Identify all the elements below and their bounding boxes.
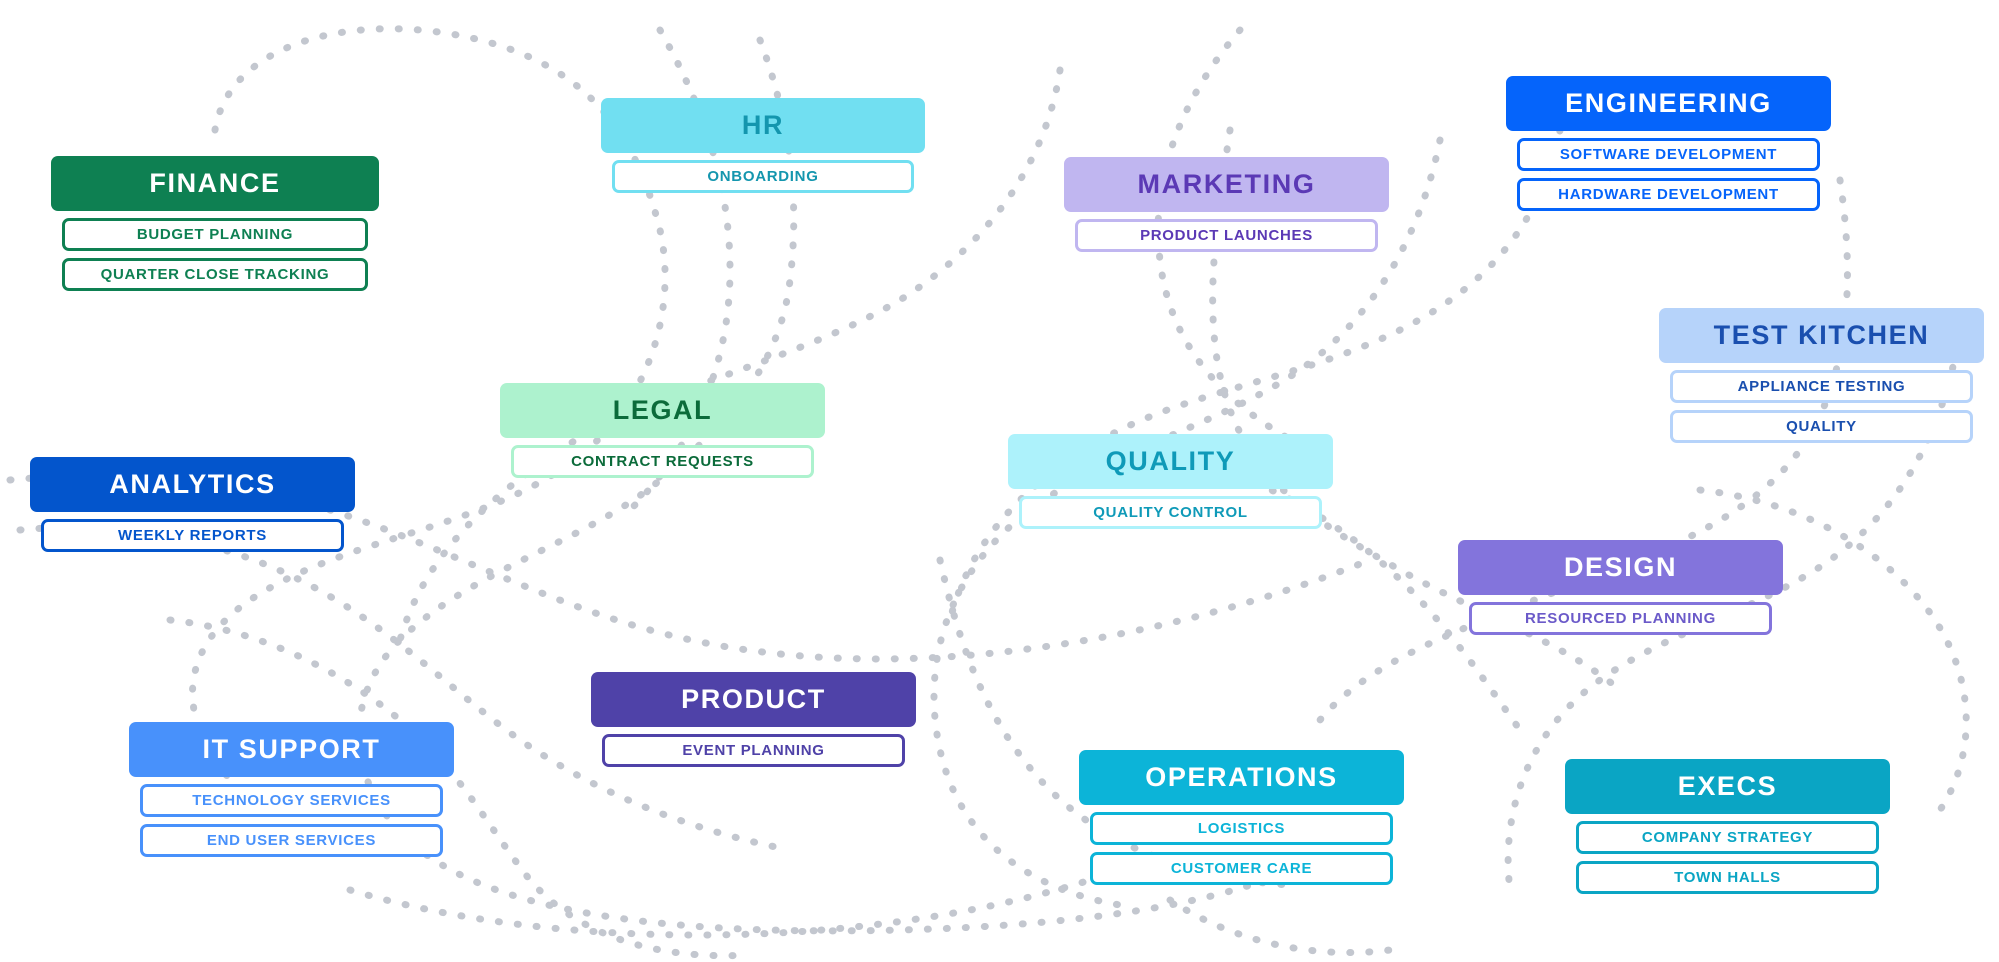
node-legal[interactable]: LEGALCONTRACT REQUESTS bbox=[500, 383, 825, 478]
node-child-execs-1[interactable]: COMPANY STRATEGY bbox=[1576, 821, 1879, 854]
node-operations[interactable]: OPERATIONSLOGISTICSCUSTOMER CARE bbox=[1079, 750, 1404, 885]
node-children-finance: BUDGET PLANNINGQUARTER CLOSE TRACKING bbox=[51, 218, 379, 291]
node-children-analytics: WEEKLY REPORTS bbox=[30, 519, 355, 552]
node-header-analytics[interactable]: ANALYTICS bbox=[30, 457, 355, 512]
node-hr[interactable]: HRONBOARDING bbox=[601, 98, 925, 193]
node-header-engineering[interactable]: ENGINEERING bbox=[1506, 76, 1831, 131]
node-child-test-kitchen-1[interactable]: APPLIANCE TESTING bbox=[1670, 370, 1973, 403]
node-child-hr-1[interactable]: ONBOARDING bbox=[612, 160, 914, 193]
node-child-design-1[interactable]: RESOURCED PLANNING bbox=[1469, 602, 1772, 635]
node-child-it-support-2[interactable]: END USER SERVICES bbox=[140, 824, 443, 857]
node-header-test-kitchen[interactable]: TEST KITCHEN bbox=[1659, 308, 1984, 363]
node-header-quality[interactable]: QUALITY bbox=[1008, 434, 1333, 489]
node-child-finance-2[interactable]: QUARTER CLOSE TRACKING bbox=[62, 258, 368, 291]
node-quality[interactable]: QUALITYQUALITY CONTROL bbox=[1008, 434, 1333, 529]
node-child-product-1[interactable]: EVENT PLANNING bbox=[602, 734, 905, 767]
node-child-it-support-1[interactable]: TECHNOLOGY SERVICES bbox=[140, 784, 443, 817]
node-child-operations-1[interactable]: LOGISTICS bbox=[1090, 812, 1393, 845]
node-children-product: EVENT PLANNING bbox=[591, 734, 916, 767]
node-children-hr: ONBOARDING bbox=[601, 160, 925, 193]
connector-path-7 bbox=[1320, 180, 1847, 720]
node-child-marketing-1[interactable]: PRODUCT LAUNCHES bbox=[1075, 219, 1378, 252]
node-analytics[interactable]: ANALYTICSWEEKLY REPORTS bbox=[30, 457, 355, 552]
node-children-marketing: PRODUCT LAUNCHES bbox=[1064, 219, 1389, 252]
node-finance[interactable]: FINANCEBUDGET PLANNINGQUARTER CLOSE TRAC… bbox=[51, 156, 379, 291]
node-header-product[interactable]: PRODUCT bbox=[591, 672, 916, 727]
node-child-quality-1[interactable]: QUALITY CONTROL bbox=[1019, 496, 1322, 529]
node-children-legal: CONTRACT REQUESTS bbox=[500, 445, 825, 478]
node-child-operations-2[interactable]: CUSTOMER CARE bbox=[1090, 852, 1393, 885]
node-children-execs: COMPANY STRATEGYTOWN HALLS bbox=[1565, 821, 1890, 894]
node-children-operations: LOGISTICSCUSTOMER CARE bbox=[1079, 812, 1404, 885]
node-child-engineering-1[interactable]: SOFTWARE DEVELOPMENT bbox=[1517, 138, 1820, 171]
node-child-analytics-1[interactable]: WEEKLY REPORTS bbox=[41, 519, 344, 552]
node-header-legal[interactable]: LEGAL bbox=[500, 383, 825, 438]
node-child-test-kitchen-2[interactable]: QUALITY bbox=[1670, 410, 1973, 443]
node-design[interactable]: DESIGNRESOURCED PLANNING bbox=[1458, 540, 1783, 635]
node-children-design: RESOURCED PLANNING bbox=[1458, 602, 1783, 635]
node-execs[interactable]: EXECSCOMPANY STRATEGYTOWN HALLS bbox=[1565, 759, 1890, 894]
node-header-execs[interactable]: EXECS bbox=[1565, 759, 1890, 814]
node-marketing[interactable]: MARKETINGPRODUCT LAUNCHES bbox=[1064, 157, 1389, 252]
node-child-engineering-2[interactable]: HARDWARE DEVELOPMENT bbox=[1517, 178, 1820, 211]
node-child-finance-1[interactable]: BUDGET PLANNING bbox=[62, 218, 368, 251]
node-children-it-support: TECHNOLOGY SERVICESEND USER SERVICES bbox=[129, 784, 454, 857]
node-header-operations[interactable]: OPERATIONS bbox=[1079, 750, 1404, 805]
node-product[interactable]: PRODUCTEVENT PLANNING bbox=[591, 672, 916, 767]
node-test-kitchen[interactable]: TEST KITCHENAPPLIANCE TESTINGQUALITY bbox=[1659, 308, 1984, 443]
node-header-finance[interactable]: FINANCE bbox=[51, 156, 379, 211]
connector-path-15 bbox=[350, 880, 1090, 935]
node-it-support[interactable]: IT SUPPORTTECHNOLOGY SERVICESEND USER SE… bbox=[129, 722, 454, 857]
node-header-hr[interactable]: HR bbox=[601, 98, 925, 153]
node-header-it-support[interactable]: IT SUPPORT bbox=[129, 722, 454, 777]
connector-path-16 bbox=[1170, 900, 1390, 953]
node-children-engineering: SOFTWARE DEVELOPMENTHARDWARE DEVELOPMENT bbox=[1506, 138, 1831, 211]
node-child-legal-1[interactable]: CONTRACT REQUESTS bbox=[511, 445, 814, 478]
node-header-design[interactable]: DESIGN bbox=[1458, 540, 1783, 595]
department-map-canvas: FINANCEBUDGET PLANNINGQUARTER CLOSE TRAC… bbox=[0, 0, 1999, 962]
node-children-test-kitchen: APPLIANCE TESTINGQUALITY bbox=[1659, 370, 1984, 443]
node-header-marketing[interactable]: MARKETING bbox=[1064, 157, 1389, 212]
node-child-execs-2[interactable]: TOWN HALLS bbox=[1576, 861, 1879, 894]
node-children-quality: QUALITY CONTROL bbox=[1008, 496, 1333, 529]
node-engineering[interactable]: ENGINEERINGSOFTWARE DEVELOPMENTHARDWARE … bbox=[1506, 76, 1831, 211]
